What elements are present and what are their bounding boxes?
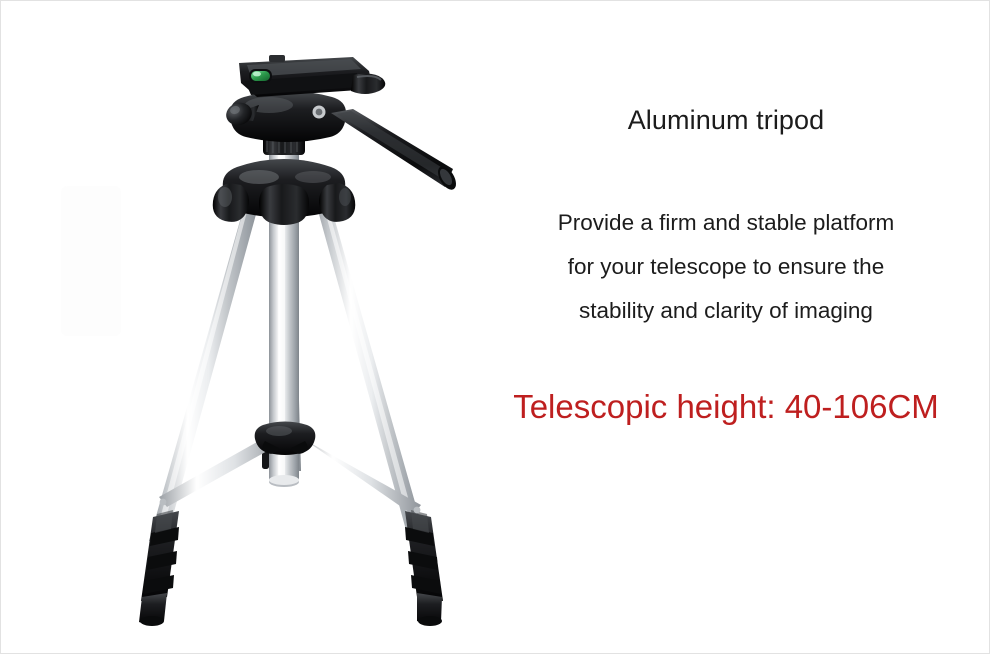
bubble-level — [249, 69, 272, 83]
telescopic-height-spec: Telescopic height: 40-106CM — [461, 387, 990, 427]
pan-handle — [331, 109, 460, 193]
tripod-leg-left — [149, 189, 263, 541]
tripod-product-image — [1, 1, 501, 654]
tripod-leg-right — [312, 189, 426, 541]
description-line-1: Provide a firm and stable platform — [461, 201, 990, 245]
product-description: Provide a firm and stable platform for y… — [461, 201, 990, 333]
foot-right — [417, 593, 442, 626]
product-headline: Aluminum tripod — [461, 104, 990, 136]
description-line-3: stability and clarity of imaging — [461, 289, 990, 333]
leg-lock-left — [141, 510, 179, 601]
leg-spider — [213, 159, 356, 225]
brace-hub — [255, 422, 316, 456]
description-line-2: for your telescope to ensure the — [461, 245, 990, 289]
feature-text-block: Aluminum tripod Provide a firm and stabl… — [461, 1, 990, 654]
leg-lock-right — [405, 510, 443, 601]
product-feature-panel: Aluminum tripod Provide a firm and stabl… — [0, 0, 990, 654]
foot-left — [139, 593, 167, 626]
plate-release-lever — [351, 74, 385, 94]
